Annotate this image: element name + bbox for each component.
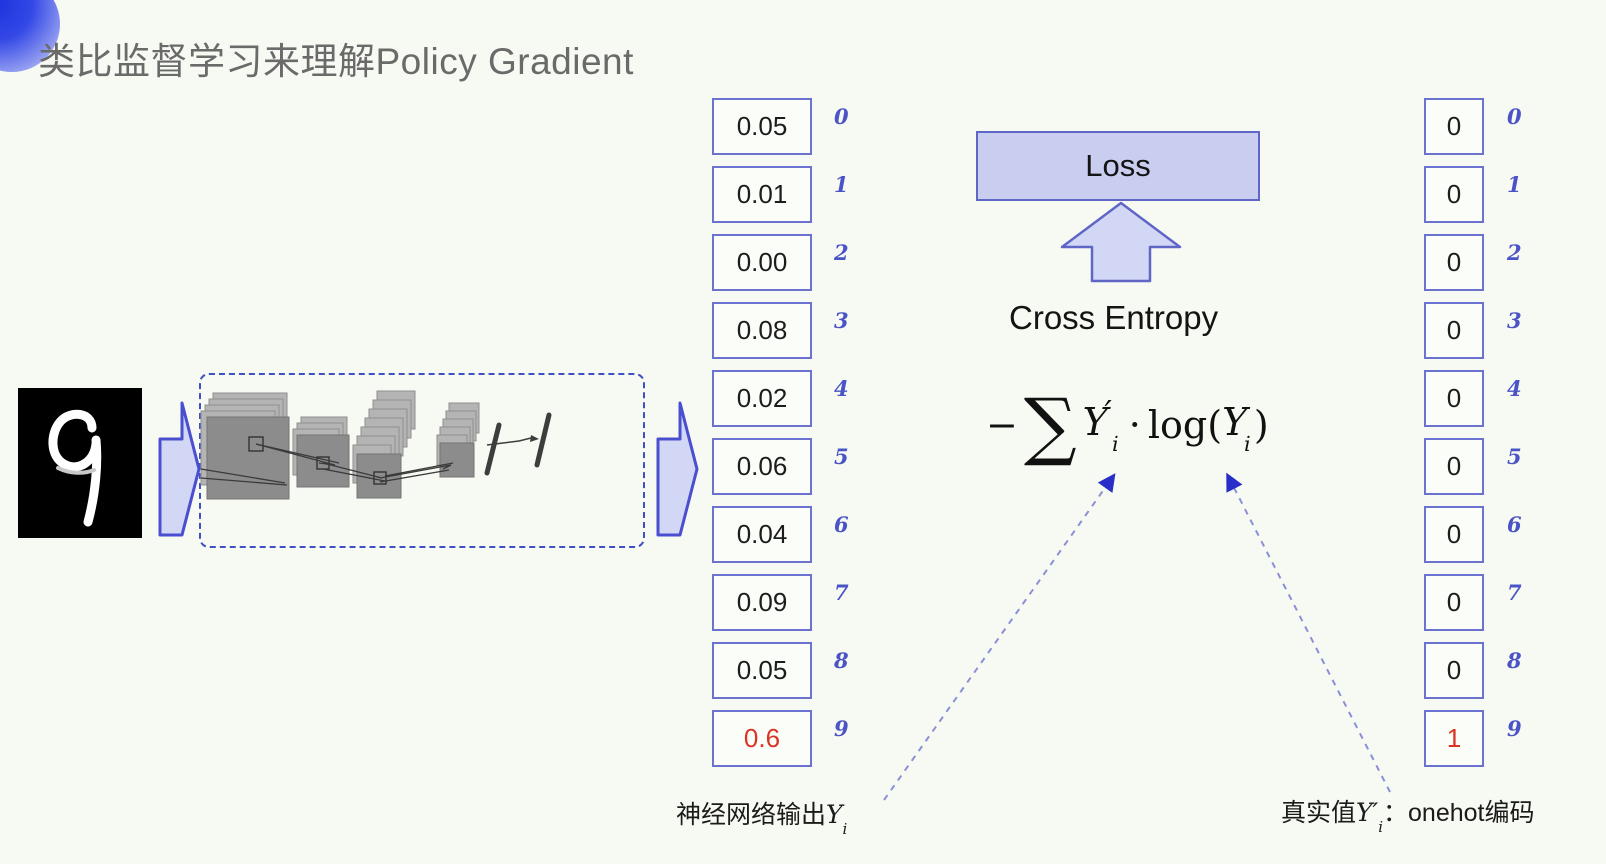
- prediction-class-index: 1: [834, 172, 849, 197]
- prediction-value-cell[interactable]: 0.6: [712, 710, 812, 767]
- onehot-value-cell[interactable]: 1: [1424, 710, 1484, 767]
- onehot-value-cell[interactable]: 0: [1424, 98, 1484, 155]
- prediction-class-index: 3: [834, 308, 849, 333]
- cross-entropy-formula: − ∑ Y′i · log( Yi ): [986, 398, 1269, 451]
- onehot-caption-suffix: ：onehot编码: [1383, 799, 1534, 827]
- formula-log: log(: [1148, 403, 1222, 447]
- prediction-value-cell[interactable]: 0.04: [712, 506, 812, 563]
- prediction-value-cell[interactable]: 0.01: [712, 166, 812, 223]
- onehot-class-index: 2: [1507, 240, 1522, 265]
- onehot-value-cell[interactable]: 0: [1424, 370, 1484, 427]
- onehot-class-index: 5: [1507, 444, 1522, 469]
- onehot-value-cell[interactable]: 0: [1424, 234, 1484, 291]
- connector-pred-to-formula: [884, 478, 1112, 800]
- onehot-value-cell[interactable]: 0: [1424, 574, 1484, 631]
- loss-box[interactable]: Loss: [976, 131, 1260, 201]
- prediction-caption: 神经网络输出Yi: [676, 795, 847, 833]
- onehot-class-index: 7: [1507, 580, 1522, 605]
- onehot-value-cell[interactable]: 0: [1424, 166, 1484, 223]
- connector-truth-to-formula: [1229, 478, 1390, 792]
- onehot-class-index: 4: [1507, 376, 1522, 401]
- prediction-class-index: 6: [834, 512, 849, 537]
- cross-entropy-label: Cross Entropy: [1009, 299, 1218, 337]
- onehot-value-cell[interactable]: 0: [1424, 302, 1484, 359]
- formula-truth-var: Y′i: [1083, 400, 1122, 449]
- prediction-value-cell[interactable]: 0.05: [712, 98, 812, 155]
- prediction-value-cell[interactable]: 0.08: [712, 302, 812, 359]
- prediction-value-cell[interactable]: 0.02: [712, 370, 812, 427]
- formula-dot: ·: [1129, 403, 1141, 447]
- mnist-digit-image: [18, 388, 142, 538]
- prediction-value-cell[interactable]: 0.09: [712, 574, 812, 631]
- onehot-value-cell[interactable]: 0: [1424, 438, 1484, 495]
- prediction-class-index: 9: [834, 716, 849, 741]
- up-arrow-icon: [1058, 199, 1184, 283]
- onehot-class-index: 9: [1507, 716, 1522, 741]
- formula-pred-var: Yi: [1222, 400, 1254, 449]
- onehot-class-index: 0: [1507, 104, 1522, 129]
- prediction-caption-var: Yi: [826, 800, 847, 829]
- onehot-class-index: 3: [1507, 308, 1522, 333]
- formula-sigma: ∑: [1024, 400, 1077, 453]
- onehot-caption-text: 真实值: [1281, 799, 1356, 827]
- onehot-class-index: 1: [1507, 172, 1522, 197]
- page-title: 类比监督学习来理解Policy Gradient: [38, 31, 634, 85]
- onehot-class-index: 6: [1507, 512, 1522, 537]
- prediction-class-index: 2: [834, 240, 849, 265]
- formula-minus: −: [986, 403, 1018, 447]
- prediction-caption-text: 神经网络输出: [676, 801, 826, 829]
- onehot-value-cell[interactable]: 0: [1424, 506, 1484, 563]
- prediction-class-index: 0: [834, 104, 849, 129]
- prediction-value-cell[interactable]: 0.00: [712, 234, 812, 291]
- onehot-value-cell[interactable]: 0: [1424, 642, 1484, 699]
- slide-canvas: 类比监督学习来理解Policy Gradient: [0, 0, 1606, 864]
- formula-close-paren: ): [1254, 403, 1269, 447]
- prediction-value-cell[interactable]: 0.05: [712, 642, 812, 699]
- chevron-right-icon: [156, 395, 202, 543]
- onehot-caption: 真实值Y′i：onehot编码: [1281, 793, 1535, 831]
- prediction-class-index: 8: [834, 648, 849, 673]
- cnn-layers-illustration: [199, 373, 645, 548]
- prediction-class-index: 4: [834, 376, 849, 401]
- onehot-caption-var: Y′i: [1356, 798, 1383, 827]
- prediction-class-index: 7: [834, 580, 849, 605]
- prediction-value-cell[interactable]: 0.06: [712, 438, 812, 495]
- onehot-class-index: 8: [1507, 648, 1522, 673]
- chevron-right-icon: [654, 395, 700, 543]
- prediction-class-index: 5: [834, 444, 849, 469]
